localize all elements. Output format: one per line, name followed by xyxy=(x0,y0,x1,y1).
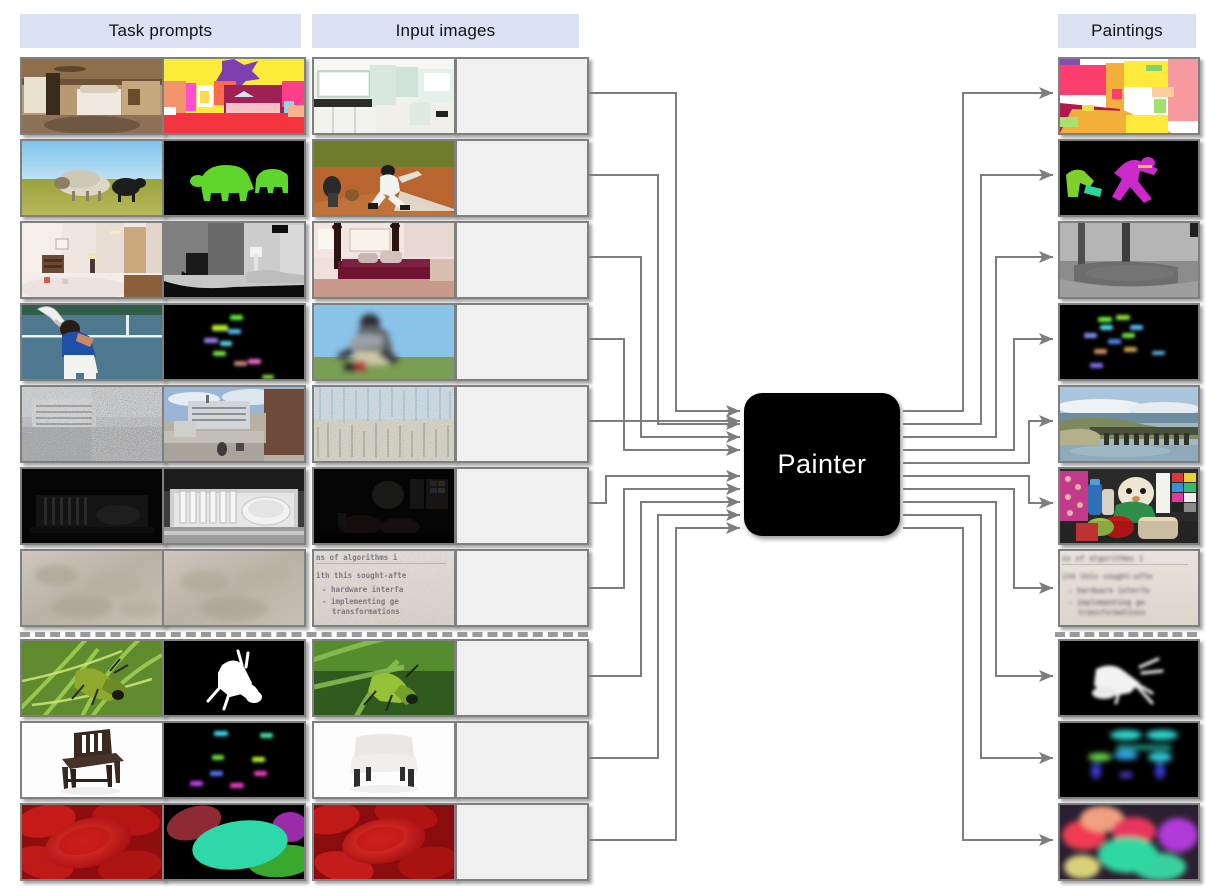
wire-out-6 xyxy=(903,476,1053,503)
painter-model-block: Painter xyxy=(744,393,900,536)
prompt-input-blurry-grass-texture xyxy=(20,549,164,627)
query-input-dark-toys-photo xyxy=(312,467,456,545)
prompt-input-tennis-photo xyxy=(20,303,164,381)
query-output-blank-canvas xyxy=(455,549,589,627)
query-output-blank-canvas xyxy=(455,467,589,545)
painting-clean-document-scan: ns of algorithms i ith this sought-afte … xyxy=(1058,549,1200,627)
wire-out-2 xyxy=(903,175,1053,424)
prompt-input-dark-wooden-chair-photo xyxy=(20,721,164,799)
prompt-target-grasshopper-white-mask xyxy=(162,639,306,717)
svg-text:transformations: transformations xyxy=(1078,608,1146,617)
svg-text:- hardware interfa: - hardware interfa xyxy=(1068,586,1150,595)
column-header-task-prompts: Task prompts xyxy=(20,14,301,48)
query-output-blank-canvas xyxy=(455,57,589,135)
wire-in-7 xyxy=(588,489,740,588)
query-input-four-poster-bed-photo xyxy=(312,221,456,299)
wire-in-8 xyxy=(588,502,740,676)
query-output-blank-canvas xyxy=(455,803,589,881)
painter-model-label: Painter xyxy=(777,449,866,480)
query-output-blank-canvas xyxy=(455,139,589,217)
wire-in-2 xyxy=(588,175,740,424)
column-header-input-images: Input images xyxy=(312,14,579,48)
column-header-paintings: Paintings xyxy=(1058,14,1196,48)
prompt-input-bedroom-photo xyxy=(20,57,164,135)
in-domain-out-of-domain-separator-left xyxy=(20,632,588,637)
prompt-target-blurry-grass-texture-clean xyxy=(162,549,306,627)
painting-bright-toys-photo xyxy=(1058,467,1200,545)
query-input-noisy-document-scan: ns of algorithms i ith this sought-afte … xyxy=(312,549,456,627)
wire-out-9 xyxy=(903,515,1053,758)
column-header-label: Paintings xyxy=(1091,21,1163,41)
query-output-blank-canvas xyxy=(455,385,589,463)
prompt-input-dark-dishwasher-photo xyxy=(20,467,164,545)
prompt-input-noisy-building-photo xyxy=(20,385,164,463)
wire-in-4 xyxy=(588,339,740,450)
query-output-blank-canvas xyxy=(455,721,589,799)
painting-clean-bridge-photo xyxy=(1058,385,1200,463)
query-input-baseball-photo xyxy=(312,139,456,217)
painting-blood-cells-instance-mask-predicted xyxy=(1058,803,1200,881)
wire-out-8 xyxy=(903,502,1053,676)
wire-in-1 xyxy=(588,93,740,411)
wire-out-7 xyxy=(903,489,1053,588)
in-domain-out-of-domain-separator-right xyxy=(1055,632,1197,637)
wire-out-4 xyxy=(903,339,1053,450)
prompt-target-clean-building-photo xyxy=(162,385,306,463)
painting-bathroom-semantic-mask xyxy=(1058,57,1200,135)
column-header-label: Task prompts xyxy=(109,21,213,41)
painting-baseball-person-mask xyxy=(1058,139,1200,217)
query-input-green-grasshopper-photo xyxy=(312,639,456,717)
prompt-input-sheep-photo xyxy=(20,139,164,217)
prompt-input-red-blood-cells-photo xyxy=(20,803,164,881)
wire-out-5 xyxy=(903,421,1053,463)
prompt-target-bedroom-depth-map xyxy=(162,221,306,299)
figure-canvas: Task prompts Input images Paintings xyxy=(0,0,1218,895)
wire-out-1 xyxy=(903,93,1053,411)
wire-out-10 xyxy=(903,528,1053,840)
prompt-input-bedroom-interior-photo xyxy=(20,221,164,299)
prompt-target-blood-cells-instance-mask xyxy=(162,803,306,881)
wire-in-9 xyxy=(588,515,740,758)
wire-in-10 xyxy=(588,528,740,840)
painting-grasshopper-white-mask-predicted xyxy=(1058,639,1200,717)
query-input-noisy-bridge-photo xyxy=(312,385,456,463)
query-input-red-blood-cells-query-photo xyxy=(312,803,456,881)
column-header-label: Input images xyxy=(396,21,496,41)
prompt-target-sheep-green-mask xyxy=(162,139,306,217)
query-output-blank-canvas xyxy=(455,221,589,299)
query-input-white-armchair-photo xyxy=(312,721,456,799)
query-input-bathroom-photo xyxy=(312,57,456,135)
painting-four-poster-bed-depth-map xyxy=(1058,221,1200,299)
wire-in-6 xyxy=(588,476,740,503)
prompt-target-bedroom-semantic-mask xyxy=(162,57,306,135)
svg-text:- implementing ge: - implementing ge xyxy=(1068,598,1145,607)
svg-text:ns of algorithms i: ns of algorithms i xyxy=(1062,554,1144,563)
painting-armchair-keypoint-map xyxy=(1058,721,1200,799)
painting-runner-keypoint-map xyxy=(1058,303,1200,381)
query-input-blurred-runner-photo xyxy=(312,303,456,381)
wire-in-3 xyxy=(588,257,740,437)
prompt-target-tennis-keypoint-map xyxy=(162,303,306,381)
prompt-input-grasshopper-photo xyxy=(20,639,164,717)
wire-out-3 xyxy=(903,257,1053,437)
prompt-target-bright-dishwasher-photo xyxy=(162,467,306,545)
svg-text:ith this sought-afte: ith this sought-afte xyxy=(1062,572,1153,581)
query-output-blank-canvas xyxy=(455,639,589,717)
query-output-blank-canvas xyxy=(455,303,589,381)
prompt-target-chair-keypoint-map xyxy=(162,721,306,799)
